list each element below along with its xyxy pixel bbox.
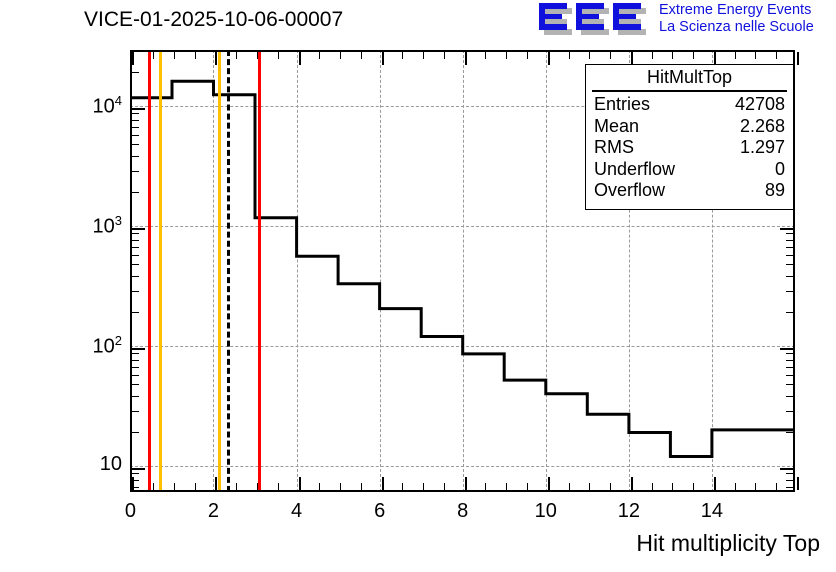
y-tick-minor	[132, 120, 139, 121]
x-tick-top-major	[299, 52, 301, 65]
x-tick-top-minor	[755, 52, 756, 59]
eee-logo-letters	[539, 3, 654, 37]
eee-letter-3	[613, 3, 646, 35]
y-tick-minor	[132, 135, 139, 136]
y-tick-right-minor	[786, 247, 793, 248]
stats-row-value: 0	[775, 159, 785, 181]
x-tick-minor	[174, 483, 175, 490]
y-tick-right-minor	[786, 240, 793, 241]
x-tick-minor	[319, 483, 320, 490]
y-tick-major	[132, 108, 145, 110]
x-tick-minor	[153, 483, 154, 490]
page-title: VICE-01-2025-10-06-00007	[84, 8, 343, 32]
x-tick-top-major	[382, 52, 384, 65]
y-tick-minor	[132, 264, 139, 265]
y-tick-right-minor	[786, 473, 793, 474]
x-tick-top-minor	[693, 52, 694, 59]
y-tick-minor	[132, 291, 139, 292]
x-tick-top-minor	[735, 52, 736, 59]
x-tick-minor	[485, 483, 486, 490]
x-tick-minor	[340, 483, 341, 490]
y-tick-minor	[132, 247, 139, 248]
x-tick-label: 14	[701, 500, 723, 523]
x-tick-minor	[672, 483, 673, 490]
stats-row-value: 89	[765, 180, 785, 202]
y-tick-label: 104	[50, 93, 122, 119]
y-tick-minor	[132, 384, 139, 385]
x-tick-top-minor	[506, 52, 507, 59]
x-tick-minor	[610, 483, 611, 490]
y-tick-minor	[132, 353, 139, 354]
x-axis-title: Hit multiplicity Top	[636, 530, 820, 557]
x-tick-label: 6	[374, 500, 385, 523]
y-tick-right-minor	[786, 384, 793, 385]
stats-row: RMS1.297	[594, 137, 785, 159]
x-tick-major	[714, 477, 716, 490]
x-tick-minor	[693, 483, 694, 490]
y-tick-right-minor	[786, 367, 793, 368]
stats-row-key: Overflow	[594, 180, 665, 202]
y-tick-minor	[132, 487, 139, 488]
stats-row-key: Entries	[594, 94, 650, 116]
x-tick-top-major	[132, 52, 134, 65]
y-tick-right-minor	[786, 396, 793, 397]
x-tick-top-minor	[423, 52, 424, 59]
y-tick-right-major	[780, 228, 793, 230]
x-tick-top-minor	[652, 52, 653, 59]
x-tick-top-minor	[589, 52, 590, 59]
y-tick-major	[132, 468, 145, 470]
y-tick-minor	[132, 127, 139, 128]
y-tick-right-minor	[786, 411, 793, 412]
x-tick-minor	[735, 483, 736, 490]
y-tick-minor	[132, 171, 139, 172]
y-tick-right-major	[780, 348, 793, 350]
stats-row: Entries42708	[594, 94, 785, 116]
y-tick-minor	[132, 367, 139, 368]
x-tick-label: 8	[457, 500, 468, 523]
x-tick-label: 2	[208, 500, 219, 523]
eee-letter-2	[576, 3, 609, 35]
y-tick-right-minor	[786, 375, 793, 376]
x-tick-minor	[278, 483, 279, 490]
x-tick-minor	[402, 483, 403, 490]
stats-row: Underflow0	[594, 159, 785, 181]
x-tick-label: 10	[535, 500, 557, 523]
x-tick-top-minor	[672, 52, 673, 59]
eee-logo: Extreme Energy Events La Scienza nelle S…	[539, 2, 834, 40]
stats-row-key: Underflow	[594, 159, 675, 181]
stats-row-value: 2.268	[740, 116, 785, 138]
y-tick-minor	[132, 72, 139, 73]
x-tick-minor	[444, 483, 445, 490]
x-tick-top-minor	[569, 52, 570, 59]
y-tick-minor	[132, 255, 139, 256]
y-tick-minor	[132, 113, 139, 114]
y-tick-label: 10	[50, 453, 122, 476]
y-tick-major	[132, 348, 145, 350]
eee-logo-line2: La Scienza nelle Scuole	[659, 19, 814, 36]
x-tick-top-major	[465, 52, 467, 65]
x-tick-minor	[527, 483, 528, 490]
x-tick-top-minor	[444, 52, 445, 59]
y-tick-right-minor	[786, 264, 793, 265]
x-tick-top-minor	[174, 52, 175, 59]
x-tick-major	[631, 477, 633, 490]
x-tick-top-minor	[319, 52, 320, 59]
y-tick-minor	[132, 473, 139, 474]
y-tick-right-minor	[786, 360, 793, 361]
y-tick-right-minor	[786, 487, 793, 488]
x-tick-top-major	[215, 52, 217, 65]
x-tick-top-major	[548, 52, 550, 65]
root-canvas: VICE-01-2025-10-06-00007 Extreme Energy …	[0, 0, 836, 572]
y-tick-minor	[132, 375, 139, 376]
x-tick-top-minor	[257, 52, 258, 59]
x-tick-minor	[569, 483, 570, 490]
x-tick-top-minor	[153, 52, 154, 59]
x-tick-top-minor	[236, 52, 237, 59]
x-tick-label: 4	[291, 500, 302, 523]
y-tick-right-minor	[786, 353, 793, 354]
x-tick-minor	[195, 483, 196, 490]
y-tick-minor	[132, 396, 139, 397]
x-tick-major	[215, 477, 217, 490]
x-tick-minor	[361, 483, 362, 490]
x-tick-label: 0	[125, 500, 136, 523]
y-tick-right-minor	[786, 233, 793, 234]
y-tick-minor	[132, 360, 139, 361]
eee-logo-line1: Extreme Energy Events	[659, 2, 814, 19]
x-tick-top-minor	[402, 52, 403, 59]
x-tick-minor	[236, 483, 237, 490]
x-tick-minor	[755, 483, 756, 490]
y-tick-right-minor	[786, 432, 793, 433]
y-tick-minor	[132, 432, 139, 433]
eee-letter-1	[539, 3, 572, 35]
stats-box-rows: Entries42708Mean2.268RMS1.297Underflow0O…	[586, 92, 793, 202]
x-tick-minor	[652, 483, 653, 490]
stats-row-value: 42708	[735, 94, 785, 116]
eee-logo-text: Extreme Energy Events La Scienza nelle S…	[659, 2, 814, 36]
x-tick-top-minor	[278, 52, 279, 59]
x-tick-major	[299, 477, 301, 490]
x-tick-minor	[506, 483, 507, 490]
y-tick-minor	[132, 192, 139, 193]
x-tick-major	[548, 477, 550, 490]
x-tick-top-minor	[485, 52, 486, 59]
x-tick-minor	[423, 483, 424, 490]
y-tick-major	[132, 228, 145, 230]
x-tick-top-major	[797, 52, 799, 65]
stats-box: HitMultTop Entries42708Mean2.268RMS1.297…	[585, 64, 794, 210]
y-tick-minor	[132, 156, 139, 157]
x-tick-minor	[589, 483, 590, 490]
x-tick-major	[797, 477, 799, 490]
x-tick-top-minor	[610, 52, 611, 59]
y-tick-minor	[132, 480, 139, 481]
y-tick-minor	[132, 312, 139, 313]
x-tick-top-minor	[776, 52, 777, 59]
stats-box-title: HitMultTop	[592, 65, 787, 92]
y-tick-right-minor	[786, 480, 793, 481]
y-tick-minor	[132, 233, 139, 234]
x-tick-top-minor	[361, 52, 362, 59]
stats-row: Mean2.268	[594, 116, 785, 138]
y-tick-right-minor	[786, 291, 793, 292]
stats-row: Overflow89	[594, 180, 785, 202]
y-tick-minor	[132, 411, 139, 412]
x-tick-minor	[257, 483, 258, 490]
x-tick-major	[382, 477, 384, 490]
y-tick-minor	[132, 276, 139, 277]
y-tick-label: 103	[50, 213, 122, 239]
y-tick-minor	[132, 144, 139, 145]
stats-row-key: Mean	[594, 116, 639, 138]
y-tick-minor	[132, 240, 139, 241]
y-tick-right-minor	[786, 276, 793, 277]
x-tick-label: 12	[618, 500, 640, 523]
stats-row-key: RMS	[594, 137, 634, 159]
x-tick-top-minor	[527, 52, 528, 59]
x-tick-minor	[776, 483, 777, 490]
y-tick-label: 102	[50, 333, 122, 359]
y-tick-right-minor	[786, 312, 793, 313]
x-tick-major	[465, 477, 467, 490]
y-tick-right-major	[780, 468, 793, 470]
x-tick-top-minor	[340, 52, 341, 59]
x-tick-top-minor	[195, 52, 196, 59]
stats-row-value: 1.297	[740, 137, 785, 159]
y-tick-right-minor	[786, 255, 793, 256]
